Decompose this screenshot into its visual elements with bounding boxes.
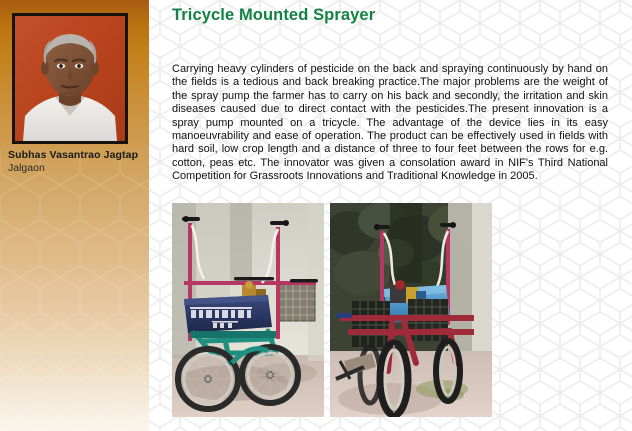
innovator-sidebar: Subhas Vasantrao Jagtap Jalgaon [0,0,149,431]
article-body: Carrying heavy cylinders of pesticide on… [172,63,608,184]
photo-tricycle-side-view[interactable] [172,203,324,417]
page-root: Subhas Vasantrao Jagtap Jalgaon Tricycle… [0,0,632,431]
photo-tricycle-front-view[interactable] [330,203,492,417]
innovator-caption: Subhas Vasantrao Jagtap Jalgaon [8,149,148,175]
main-content: Tricycle Mounted Sprayer Carrying heavy … [149,0,632,431]
innovator-location: Jalgaon [8,162,148,175]
page-title: Tricycle Mounted Sprayer [172,6,375,25]
innovator-portrait-photo [12,13,128,144]
photo-gallery [172,203,492,417]
innovator-name: Subhas Vasantrao Jagtap [8,149,148,162]
